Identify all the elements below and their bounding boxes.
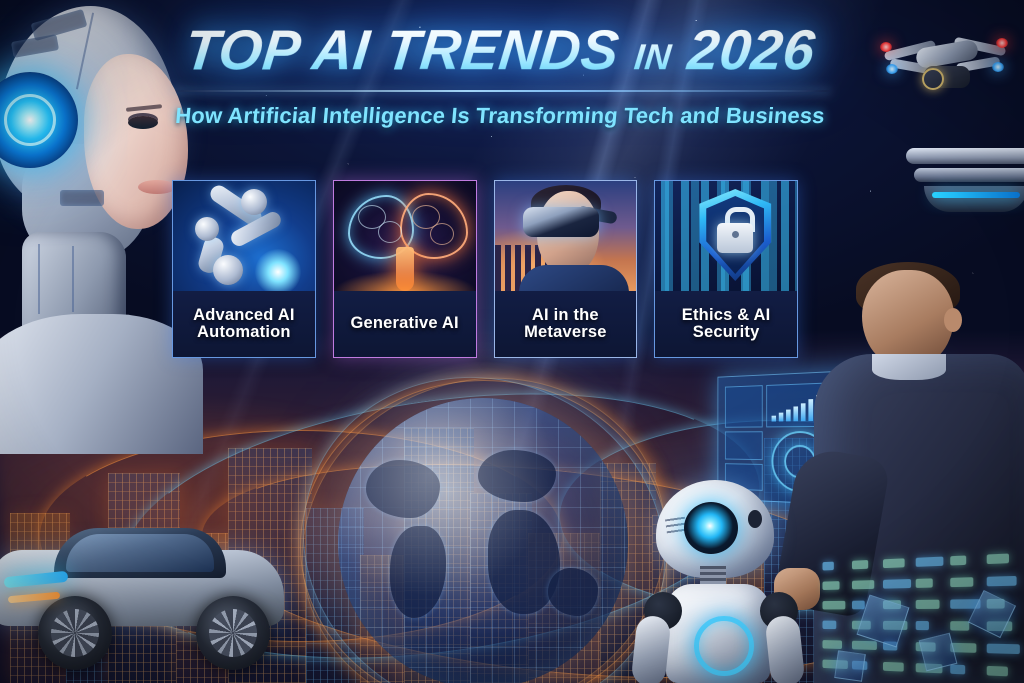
card-label-line1: Generative AI — [350, 314, 458, 332]
data-panel-cell — [883, 579, 911, 589]
trend-card-label: AI in theMetaverse — [495, 291, 637, 357]
ai-trends-poster: Advanced AIAutomation Generative AI — [0, 0, 1024, 683]
platform-light-strip — [932, 192, 1020, 198]
trend-card-ai-in-the-metaverse[interactable]: AI in theMetaverse — [494, 180, 638, 358]
car-wheel — [38, 596, 112, 670]
trend-card-row: Advanced AIAutomation Generative AI — [172, 180, 798, 358]
robot-sensor — [748, 510, 762, 528]
data-panel-cell — [950, 621, 969, 631]
card-label-line2: Automation — [197, 323, 291, 341]
page-title: TOP AI TRENDS IN 2026 — [147, 22, 853, 78]
trend-card-generative-ai[interactable]: Generative AI — [333, 180, 477, 358]
vr-headset-person-icon — [495, 181, 637, 291]
platform-deck — [914, 168, 1024, 182]
data-panel-cell — [987, 576, 1017, 586]
robot-seam — [72, 246, 74, 312]
dashboard-widget — [725, 431, 763, 460]
data-panel-cell — [823, 640, 842, 649]
businessman-head — [862, 270, 954, 366]
futuristic-sky-platform — [906, 148, 1024, 220]
lock-body — [717, 223, 753, 253]
glass-cube — [834, 650, 866, 682]
drone-light — [992, 62, 1004, 72]
data-panel-cell — [852, 560, 868, 569]
autonomous-electric-car — [0, 522, 284, 662]
card-label-line1: AI in the — [532, 306, 599, 324]
platform-deck — [906, 148, 1024, 164]
arm-joint — [241, 189, 267, 215]
brain-fold — [378, 221, 402, 243]
card-label-line1: Ethics & AI — [682, 306, 771, 324]
white-assistant-robot — [628, 480, 813, 683]
trend-card-advanced-ai-automation[interactable]: Advanced AIAutomation — [172, 180, 316, 358]
data-panel-cell — [950, 555, 966, 565]
data-panel-cell — [916, 578, 933, 588]
data-panel-cell — [823, 601, 846, 610]
car-rim — [209, 609, 257, 657]
card-label-line1: Advanced AI — [193, 306, 295, 324]
brain-glow-base — [334, 271, 476, 291]
data-panel-cell — [823, 581, 840, 590]
title-year: 2026 — [685, 18, 818, 81]
brain-fold — [430, 223, 454, 245]
robot-arm — [630, 614, 671, 683]
wireframe-network-globe — [338, 398, 628, 683]
data-panel-cell — [950, 664, 965, 674]
platform-base — [924, 186, 1024, 212]
poster-heading-block: TOP AI TRENDS IN 2026 How Artificial Int… — [150, 22, 850, 129]
drone-light — [996, 38, 1008, 48]
robot-lips — [138, 180, 176, 194]
spark-glow — [255, 249, 301, 291]
title-divider — [170, 90, 830, 92]
page-subtitle: How Artificial Intelligence Is Transform… — [149, 103, 851, 129]
flying-delivery-drone — [880, 22, 1008, 102]
card-label-line2: Metaverse — [524, 323, 607, 341]
title-main: TOP AI TRENDS — [182, 18, 622, 81]
drone-light — [880, 42, 892, 52]
data-panel-cell — [852, 580, 874, 589]
data-panel-cell — [823, 621, 837, 630]
arm-gripper — [213, 255, 243, 285]
businessman-ear — [944, 308, 962, 332]
dashboard-widget — [725, 385, 763, 428]
trend-card-ethics-ai-security[interactable]: Ethics & AISecurity — [654, 180, 798, 358]
robot-chest-ring — [694, 616, 754, 676]
data-panel-cell — [916, 557, 944, 567]
glowing-brain-icon — [334, 181, 476, 291]
car-rim — [51, 609, 99, 657]
title-connector: IN — [632, 36, 673, 77]
car-windshield — [66, 534, 214, 572]
data-panel-cell — [883, 558, 905, 568]
data-panel-cell — [883, 662, 904, 672]
robot-arm — [764, 614, 805, 683]
data-panel-cell — [987, 666, 1008, 677]
data-panel-cell — [950, 577, 973, 587]
data-panel-cell — [987, 553, 1009, 564]
robot-seam — [38, 244, 40, 314]
drone-rotor-ring-icon — [922, 68, 944, 90]
vr-goggles — [523, 207, 599, 237]
data-panel-cell — [987, 644, 1020, 654]
card-label-line2: Security — [693, 323, 760, 341]
trend-card-label: Advanced AIAutomation — [173, 291, 315, 357]
businessman-collar — [872, 354, 946, 380]
person-torso — [519, 265, 629, 291]
robot-cheek-panel — [60, 190, 104, 206]
globe-rim-glow — [338, 398, 628, 683]
arm-joint — [195, 217, 219, 241]
robot-arm-icon — [173, 181, 315, 291]
data-panel-cell — [823, 562, 834, 571]
robot-eye — [684, 502, 738, 554]
trend-card-label: Generative AI — [334, 291, 476, 357]
car-wheel — [196, 596, 270, 670]
data-panel-cell — [852, 641, 877, 650]
data-panel-cell — [852, 601, 865, 610]
trend-card-label: Ethics & AISecurity — [655, 291, 797, 357]
data-panel-cell — [916, 600, 940, 609]
drone-light — [886, 64, 898, 74]
data-panel-cell — [916, 621, 929, 630]
shield-lock-icon — [655, 181, 797, 291]
